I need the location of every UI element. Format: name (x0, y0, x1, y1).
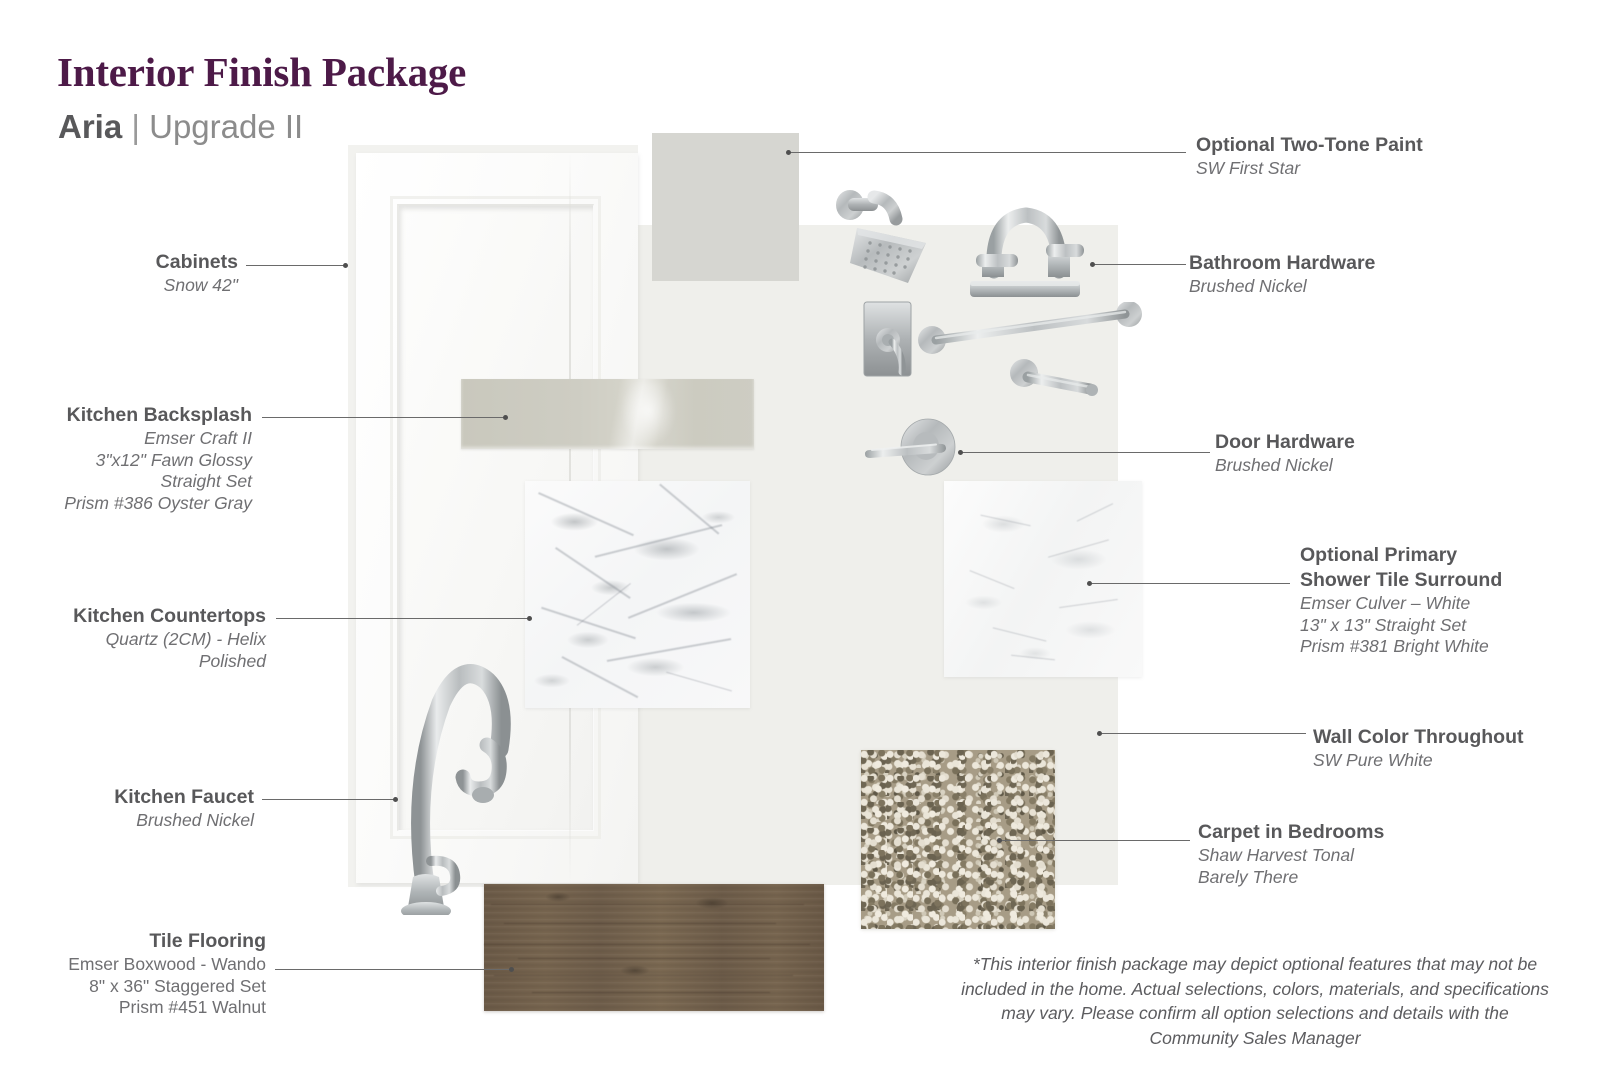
callout-optional-two-tone-paint: Optional Two-Tone Paint SW First Star (1196, 133, 1423, 180)
callout-tile-flooring-sub-0: Emser Boxwood - Wando (0, 954, 266, 976)
callout-cabinets-head: Cabinets (0, 250, 238, 275)
callout-optional-primary-shower-tile-surround: Optional Primary Shower Tile Surround Em… (1300, 543, 1502, 658)
leader-dot-wall-color (1097, 731, 1102, 736)
callout-carpet-sub-0: Shaw Harvest Tonal (1198, 845, 1384, 867)
callout-bathroom-hardware-head: Bathroom Hardware (1189, 251, 1375, 276)
quartz-countertop-swatch (525, 481, 750, 708)
callout-kitchen-faucet: Kitchen Faucet Brushed Nickel (0, 785, 254, 832)
leader-two-tone-paint (789, 152, 1186, 153)
callout-shower-tile-head2: Shower Tile Surround (1300, 568, 1502, 593)
leader-dot-tile-flooring (509, 967, 514, 972)
callout-carpet-sub-1: Barely There (1198, 867, 1384, 889)
leader-dot-bathroom-hardware (1090, 262, 1095, 267)
leader-dot-countertops (527, 616, 532, 621)
callout-tile-flooring-sub-2: Prism #451 Walnut (0, 997, 266, 1019)
callout-wall-color-sub-0: SW Pure White (1313, 750, 1523, 772)
leader-dot-kitchen-faucet (393, 797, 398, 802)
lavatory-faucet-icon (960, 175, 1096, 310)
shower-tile-swatch (944, 481, 1142, 677)
disclaimer-text: *This interior finish package may depict… (955, 952, 1555, 1050)
callout-kitchen-countertops: Kitchen Countertops Quartz (2CM) - Helix… (0, 604, 266, 672)
leader-kitchen-faucet (262, 799, 395, 800)
leader-dot-shower-tile (1087, 581, 1092, 586)
backsplash-tile-swatch (461, 379, 754, 449)
leader-dot-cabinets (343, 263, 348, 268)
page-title: Interior Finish Package (57, 48, 466, 96)
leader-countertops (276, 618, 528, 619)
leader-door-hardware (962, 452, 1210, 453)
callout-kitchen-backsplash-sub-0: Emser Craft II (0, 428, 252, 450)
wood-flooring-plank-swatch (484, 884, 824, 1011)
toilet-paper-holder-icon (1006, 355, 1106, 405)
two-tone-paint-swatch (652, 133, 799, 281)
leader-dot-backsplash (503, 415, 508, 420)
callout-cabinets-sub-0: Snow 42" (0, 275, 238, 297)
leader-dot-carpet (997, 838, 1002, 843)
callout-door-hardware: Door Hardware Brushed Nickel (1215, 430, 1355, 477)
callout-tile-flooring-head: Tile Flooring (0, 929, 266, 954)
callout-carpet-in-bedrooms: Carpet in Bedrooms Shaw Harvest Tonal Ba… (1198, 820, 1384, 888)
callout-door-hardware-head: Door Hardware (1215, 430, 1355, 455)
callout-door-hardware-sub-0: Brushed Nickel (1215, 455, 1355, 477)
callout-kitchen-backsplash: Kitchen Backsplash Emser Craft II 3"x12"… (0, 403, 252, 514)
tile-gloss-highlight (622, 383, 675, 445)
leader-dot-two-tone-paint (786, 150, 791, 155)
callout-kitchen-faucet-sub-0: Brushed Nickel (0, 810, 254, 832)
callout-shower-tile-head: Optional Primary (1300, 543, 1502, 568)
callout-wall-color-head: Wall Color Throughout (1313, 725, 1523, 750)
callout-kitchen-countertops-sub-1: Polished (0, 651, 266, 673)
callout-kitchen-backsplash-sub-1: 3"x12" Fawn Glossy (0, 450, 252, 472)
leader-bathroom-hardware (1093, 264, 1186, 265)
callout-bathroom-hardware-sub-0: Brushed Nickel (1189, 276, 1375, 298)
callout-shower-tile-sub-0: Emser Culver – White (1300, 593, 1502, 615)
door-lever-icon (862, 416, 972, 478)
callout-shower-tile-sub-1: 13" x 13" Straight Set (1300, 615, 1502, 637)
callout-kitchen-backsplash-sub-3: Prism #386 Oyster Gray (0, 493, 252, 515)
kitchen-faucet-icon (383, 645, 528, 915)
package-level: Upgrade II (149, 108, 303, 145)
leader-tile-flooring (275, 969, 511, 970)
leader-cabinets (246, 265, 345, 266)
callout-kitchen-faucet-head: Kitchen Faucet (0, 785, 254, 810)
page-subtitle: Aria | Upgrade II (58, 108, 303, 146)
leader-dot-door-hardware (958, 450, 963, 455)
callout-shower-tile-sub-2: Prism #381 Bright White (1300, 636, 1502, 658)
leader-carpet (1000, 840, 1190, 841)
leader-wall-color (1100, 733, 1306, 734)
callout-cabinets: Cabinets Snow 42" (0, 250, 238, 297)
callout-tile-flooring: Tile Flooring Emser Boxwood - Wando 8" x… (0, 929, 266, 1019)
subtitle-separator: | (131, 108, 140, 145)
callout-carpet-head: Carpet in Bedrooms (1198, 820, 1384, 845)
finish-package-board: Interior Finish Package Aria | Upgrade I… (0, 0, 1609, 1075)
callout-tile-flooring-sub-1: 8" x 36" Staggered Set (0, 976, 266, 998)
callout-kitchen-countertops-head: Kitchen Countertops (0, 604, 266, 629)
callout-wall-color-throughout: Wall Color Throughout SW Pure White (1313, 725, 1523, 772)
towel-bar-icon (916, 302, 1144, 356)
leader-shower-tile (1090, 583, 1290, 584)
callout-optional-two-tone-paint-head: Optional Two-Tone Paint (1196, 133, 1423, 158)
plan-name: Aria (58, 108, 122, 145)
callout-bathroom-hardware: Bathroom Hardware Brushed Nickel (1189, 251, 1375, 298)
leader-backsplash (262, 417, 505, 418)
callout-optional-two-tone-paint-sub-0: SW First Star (1196, 158, 1423, 180)
callout-kitchen-countertops-sub-0: Quartz (2CM) - Helix (0, 629, 266, 651)
callout-kitchen-backsplash-head: Kitchen Backsplash (0, 403, 252, 428)
callout-kitchen-backsplash-sub-2: Straight Set (0, 471, 252, 493)
shower-valve-trim-icon (860, 300, 922, 380)
shower-head-icon (834, 183, 940, 288)
